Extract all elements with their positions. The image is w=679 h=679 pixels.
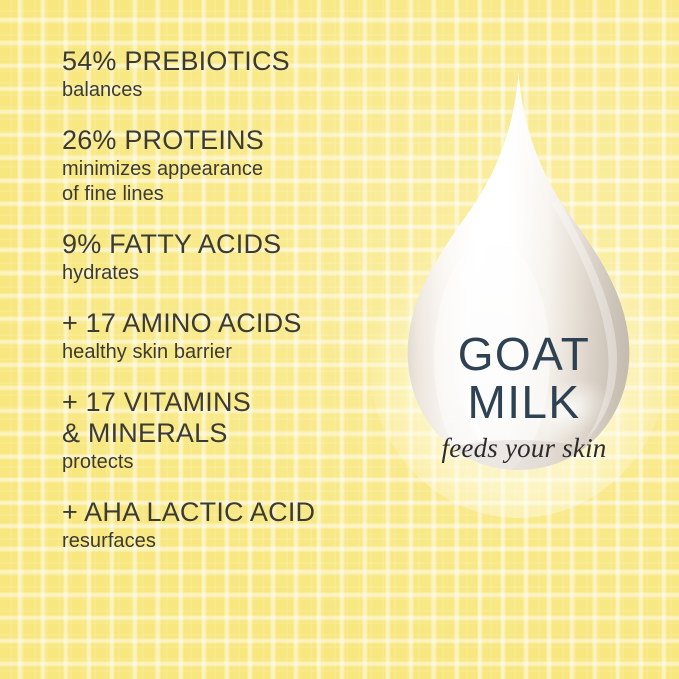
ingredient-title: 54% PREBIOTICS	[62, 46, 392, 77]
goat-milk-ingredient-poster: 54% PREBIOTICS balances 26% PROTEINS min…	[0, 0, 679, 679]
ingredient-description: healthy skin barrier	[62, 340, 392, 365]
ingredient-item-proteins: 26% PROTEINS minimizes appearance of fin…	[62, 125, 392, 207]
ingredient-description: resurfaces	[62, 529, 392, 554]
ingredient-title: 9% FATTY ACIDS	[62, 229, 392, 260]
ingredient-item-fatty-acids: 9% FATTY ACIDS hydrates	[62, 229, 392, 286]
ingredient-description: protects	[62, 450, 392, 475]
milk-droplet-graphic	[372, 58, 668, 554]
ingredient-list: 54% PREBIOTICS balances 26% PROTEINS min…	[62, 46, 392, 554]
milk-droplet-icon	[372, 58, 668, 554]
ingredient-item-amino-acids: + 17 AMINO ACIDS healthy skin barrier	[62, 308, 392, 365]
ingredient-item-aha-lactic-acid: + AHA LACTIC ACID resurfaces	[62, 497, 392, 554]
ingredient-description: hydrates	[62, 261, 392, 286]
ingredient-item-prebiotics: 54% PREBIOTICS balances	[62, 46, 392, 103]
ingredient-title: + 17 AMINO ACIDS	[62, 308, 392, 339]
ingredient-title: + 17 VITAMINS & MINERALS	[62, 387, 392, 449]
ingredient-title: + AHA LACTIC ACID	[62, 497, 392, 528]
ingredient-item-vitamins-minerals: + 17 VITAMINS & MINERALS protects	[62, 387, 392, 475]
ingredient-description: balances	[62, 78, 392, 103]
ingredient-description: minimizes appearance of fine lines	[62, 157, 392, 207]
ingredient-title: 26% PROTEINS	[62, 125, 392, 156]
